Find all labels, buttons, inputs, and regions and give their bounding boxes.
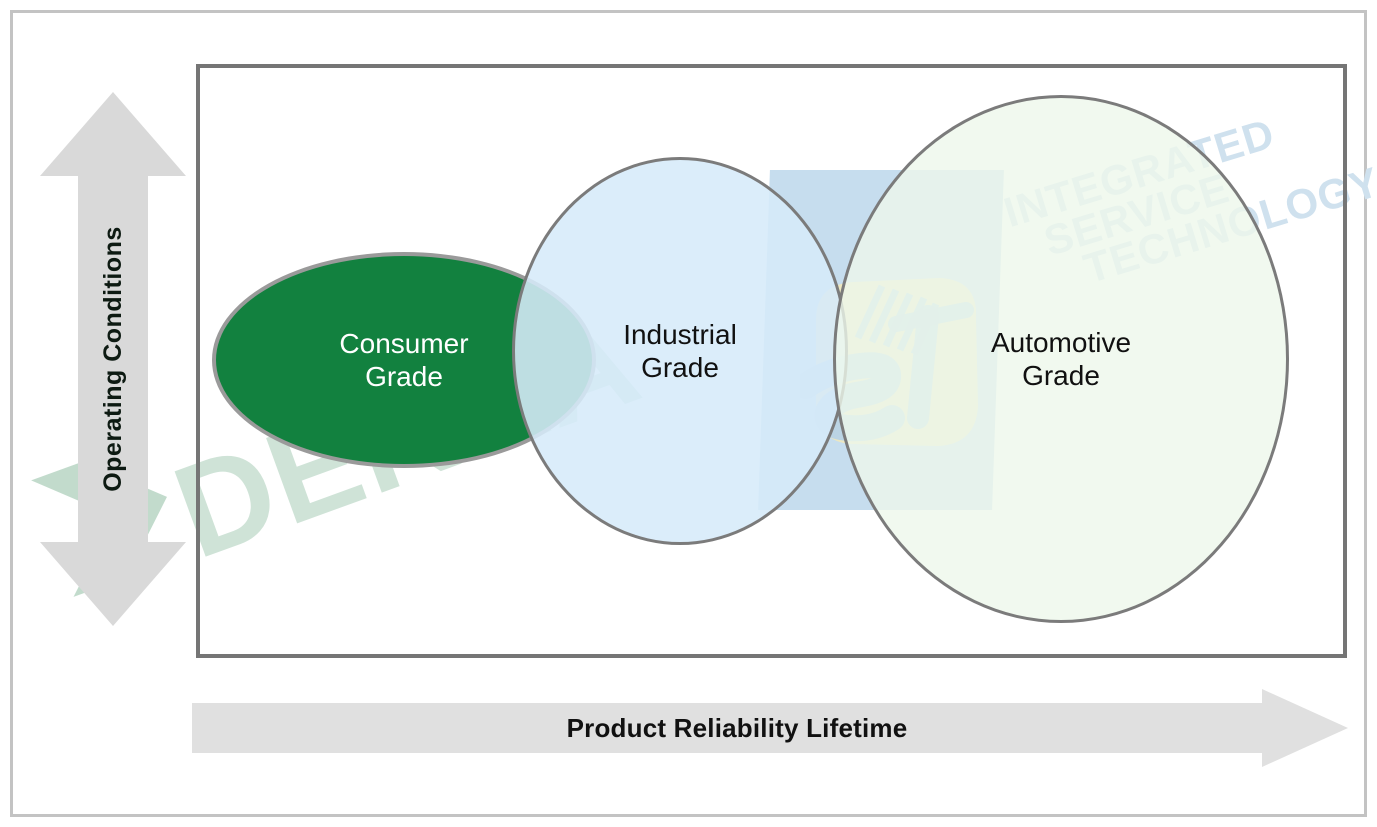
operating-conditions-arrow: Operating Conditions — [38, 90, 188, 628]
consumer-grade-line-2: Grade — [365, 360, 443, 393]
diagram-canvas: DEKRA INTEGRATED SERVICE TECHNOLOGY Oper… — [0, 0, 1377, 827]
industrial-grade-line-2: Grade — [641, 351, 719, 384]
shape-automotive-grade-label: Automotive Grade — [836, 98, 1286, 620]
automotive-grade-line-1: Automotive — [991, 326, 1131, 359]
industrial-grade-line-1: Industrial — [623, 318, 737, 351]
x-axis-label: Product Reliability Lifetime — [192, 689, 1282, 767]
y-axis-label: Operating Conditions — [38, 90, 188, 628]
consumer-grade-line-1: Consumer — [339, 327, 468, 360]
shape-industrial-grade-label: Industrial Grade — [515, 160, 845, 542]
automotive-grade-line-2: Grade — [1022, 359, 1100, 392]
shape-industrial-grade[interactable]: Industrial Grade — [512, 157, 848, 545]
shape-automotive-grade[interactable]: Automotive Grade — [833, 95, 1289, 623]
product-reliability-arrow: Product Reliability Lifetime — [192, 689, 1348, 767]
